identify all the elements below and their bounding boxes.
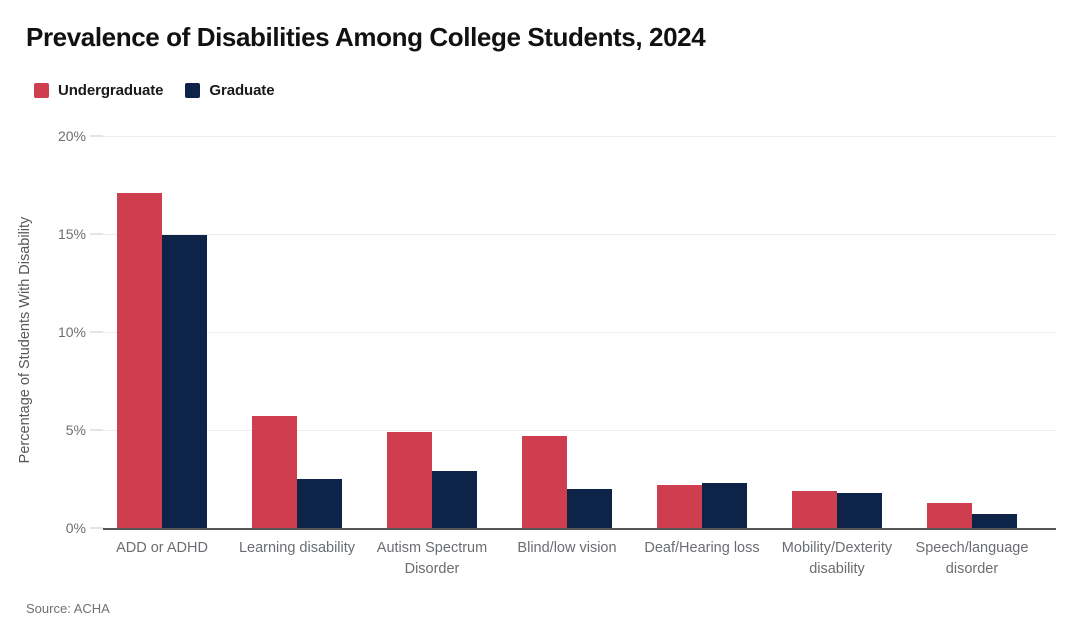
x-axis-tick-label: Learning disability <box>222 538 372 559</box>
gridline <box>103 430 1056 431</box>
y-axis-tick-mark <box>90 234 103 235</box>
bar-0-4[interactable] <box>657 485 702 528</box>
bar-1-3[interactable] <box>567 489 612 528</box>
x-axis-tick-label: Speech/language disorder <box>897 538 1047 580</box>
y-axis-tick-label: 20% <box>58 128 86 144</box>
bar-0-1[interactable] <box>252 416 297 528</box>
bar-0-6[interactable] <box>927 503 972 528</box>
gridline <box>103 136 1056 137</box>
bar-1-4[interactable] <box>702 483 747 528</box>
bar-0-2[interactable] <box>387 432 432 528</box>
bar-0-5[interactable] <box>792 491 837 528</box>
x-axis-line <box>103 528 1056 530</box>
y-axis-tick-label: 0% <box>66 520 86 536</box>
chart-canvas: Percentage of Students With Disability 0… <box>0 0 1080 636</box>
y-axis-tick-mark <box>90 136 103 137</box>
bar-1-1[interactable] <box>297 479 342 528</box>
x-axis-tick-label: ADD or ADHD <box>87 538 237 559</box>
x-axis-tick-label: Deaf/Hearing loss <box>627 538 777 559</box>
y-axis-tick-mark <box>90 332 103 333</box>
y-axis-tick-label: 5% <box>66 422 86 438</box>
bar-1-6[interactable] <box>972 514 1017 528</box>
y-axis-tick-mark <box>90 430 103 431</box>
y-axis-tick-labels: 0%5%10%15%20% <box>0 0 86 636</box>
y-axis-tick-mark <box>90 528 103 529</box>
bar-0-3[interactable] <box>522 436 567 528</box>
y-axis-tick-label: 10% <box>58 324 86 340</box>
x-axis-tick-label: Blind/low vision <box>492 538 642 559</box>
bar-1-0[interactable] <box>162 235 207 528</box>
source-note: Source: ACHA <box>26 601 110 616</box>
y-axis-tick-label: 15% <box>58 226 86 242</box>
bar-0-0[interactable] <box>117 193 162 528</box>
x-axis-tick-label: Autism Spectrum Disorder <box>357 538 507 580</box>
gridline <box>103 332 1056 333</box>
plot-area <box>103 136 1056 528</box>
bar-1-2[interactable] <box>432 471 477 528</box>
bar-1-5[interactable] <box>837 493 882 528</box>
gridline <box>103 234 1056 235</box>
x-axis-tick-label: Mobility/Dexterity disability <box>762 538 912 580</box>
